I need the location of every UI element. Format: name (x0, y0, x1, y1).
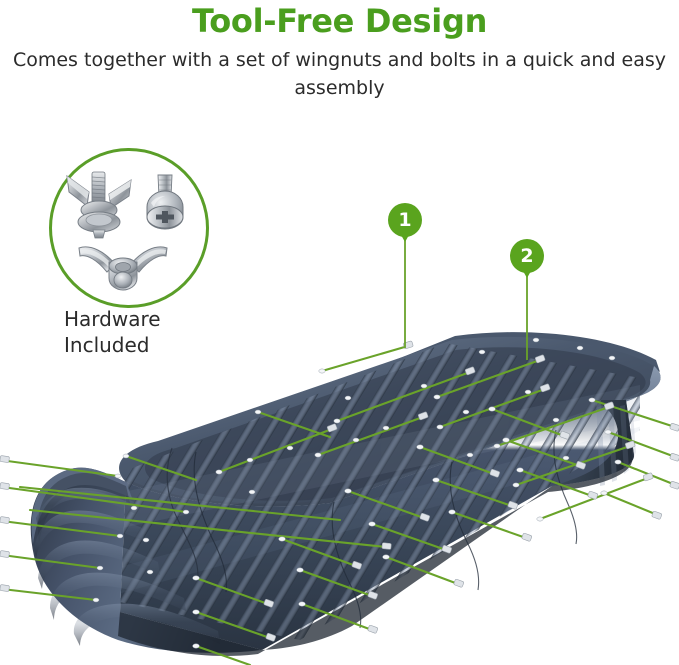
bed-rim (126, 366, 661, 506)
bed-top-opening (119, 337, 661, 506)
bed-left-seam (167, 448, 198, 576)
bed-far-side (120, 332, 660, 482)
page-title: Tool-Free Design (0, 0, 679, 39)
wingnut-icon (77, 240, 169, 294)
callout-marker-2[interactable]: 2 (510, 239, 544, 273)
callout-marker-1[interactable]: 1 (388, 203, 422, 237)
hardware-caption: Hardware Included (64, 306, 161, 358)
bed-right-end-cap (552, 400, 634, 486)
wingnut-on-bolt-icon (63, 166, 135, 240)
bed-left-cap-ribs (34, 488, 220, 646)
bolt-holes (93, 338, 621, 648)
bed-top-inner-shadow (145, 347, 646, 501)
page-subtitle: Comes together with a set of wingnuts an… (0, 39, 679, 102)
hardware-badge (49, 148, 209, 308)
bed-panel-seams (194, 430, 577, 628)
bolt-markers (0, 341, 679, 642)
callout-marker-1-label: 1 (398, 209, 411, 231)
callout-marker-2-label: 2 (520, 245, 533, 267)
header: Tool-Free Design Comes together with a s… (0, 0, 679, 102)
callout-leader-lines (405, 237, 527, 360)
phillips-bolt-icon (143, 173, 187, 233)
bed-left-end-cap (31, 468, 262, 653)
bed-bottom-edge (118, 455, 634, 656)
bed-left-rim-shadow (38, 473, 130, 542)
bed-right-cap-ribs (596, 400, 636, 486)
bed-front-face (120, 400, 634, 650)
assembly-bolt-lines (0, 346, 678, 665)
bed-left-rim (32, 468, 132, 544)
